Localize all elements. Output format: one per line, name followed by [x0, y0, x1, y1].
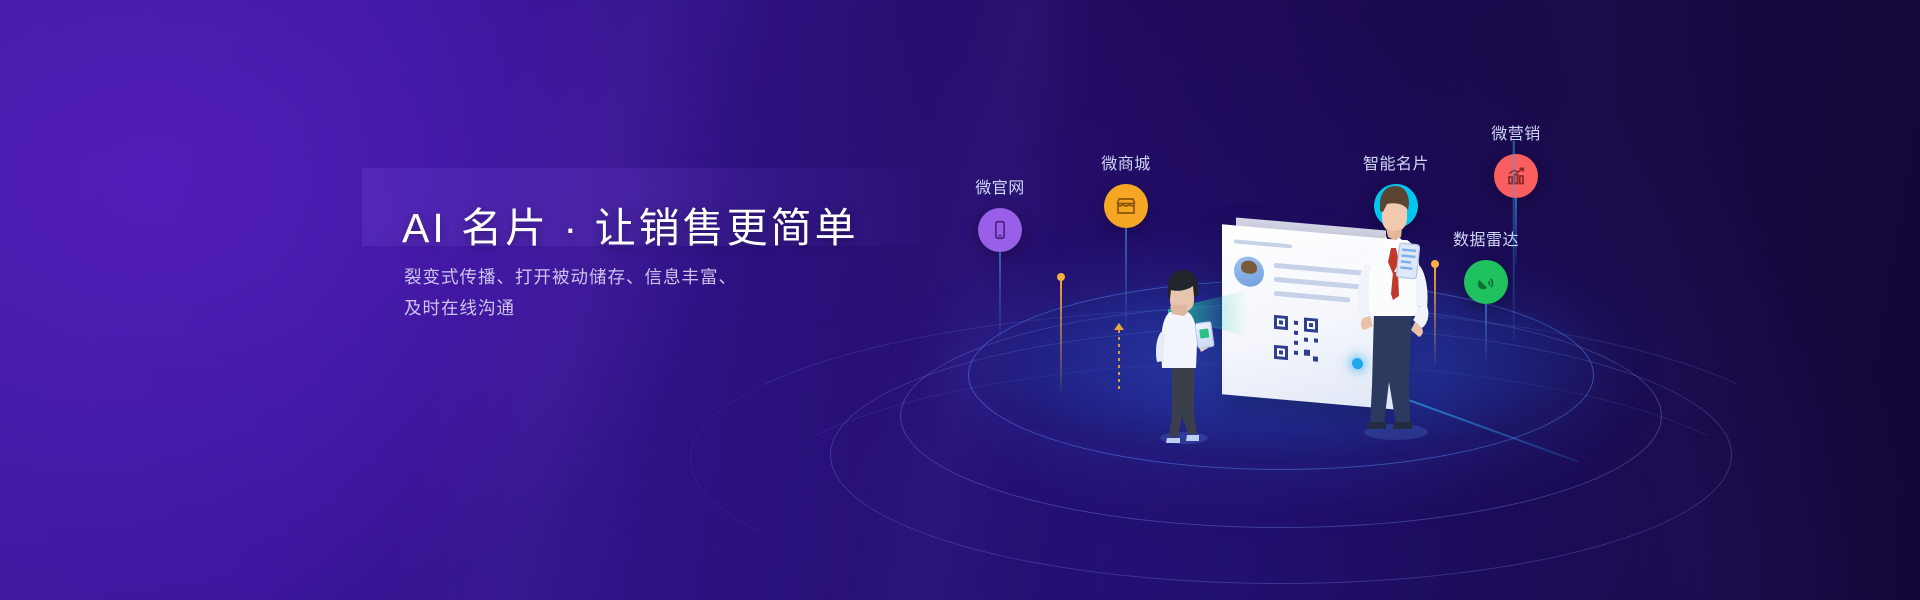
marker-label-wei-ying-xiao: 微营销	[1491, 120, 1541, 144]
marker-wei-guan-wang[interactable]: 微官网	[978, 208, 1022, 252]
marker-label-zhi-neng-ming-pian: 智能名片	[1363, 150, 1429, 174]
laser-line-vertical	[1513, 141, 1515, 341]
qr-code-icon	[1274, 315, 1318, 363]
woman-phone	[1194, 321, 1214, 349]
card-text-line	[1274, 291, 1350, 303]
marker-bubble-wei-guan-wang[interactable]	[978, 208, 1022, 252]
card-avatar	[1234, 255, 1264, 288]
accent-dot-left	[1057, 273, 1065, 281]
page-title: AI 名片 · 让销售更简单	[402, 194, 859, 254]
mobile-phone-icon	[989, 219, 1011, 241]
marker-label-wei-shang-cheng: 微商城	[1101, 150, 1151, 174]
businessman-with-phone	[1346, 182, 1442, 440]
marker-stem-wei-guan-wang	[999, 252, 1001, 338]
woman-scanning-qr	[1144, 266, 1220, 446]
accent-stem-left	[1060, 281, 1062, 393]
hero-banner: AI 名片 · 让销售更简单 裂变式传播、打开被动储存、信息丰富、 及时在线沟通…	[0, 0, 1920, 600]
marker-label-wei-guan-wang: 微官网	[975, 174, 1025, 198]
card-text-line	[1234, 239, 1292, 248]
illustration-scene	[1110, 180, 1530, 500]
